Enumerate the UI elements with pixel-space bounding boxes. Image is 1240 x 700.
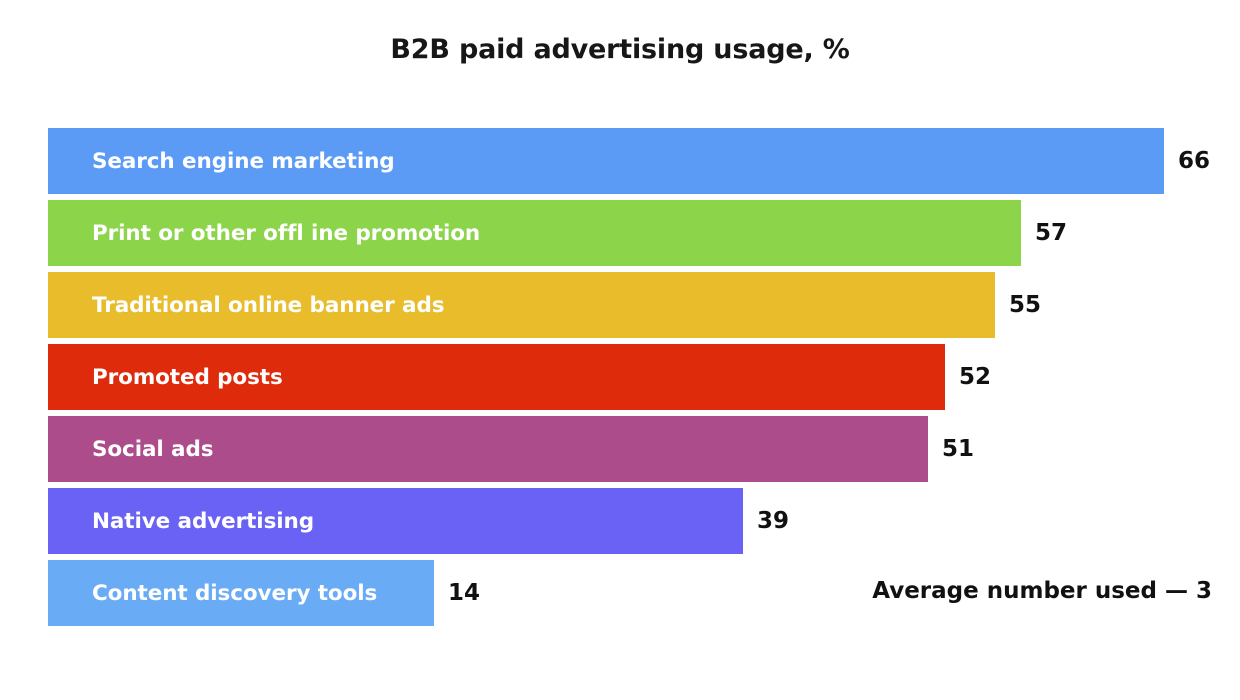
bar-promoted-posts[interactable]: Promoted posts bbox=[48, 344, 945, 410]
bar-value-label: 51 bbox=[928, 416, 974, 482]
bar-value-label: 39 bbox=[743, 488, 789, 554]
bar-row: Promoted posts 52 bbox=[48, 344, 1240, 410]
bar-value-label: 57 bbox=[1021, 200, 1067, 266]
bar-row: Social ads 51 bbox=[48, 416, 1240, 482]
bar-row: Print or other offl ine promotion 57 bbox=[48, 200, 1240, 266]
bar-value-label: 55 bbox=[995, 272, 1041, 338]
average-number-used-annotation: Average number used — 3 bbox=[872, 578, 1212, 604]
bar-row: Traditional online banner ads 55 bbox=[48, 272, 1240, 338]
bars-area: Search engine marketing 66 Print or othe… bbox=[48, 128, 1240, 632]
bar-category-label: Search engine marketing bbox=[92, 149, 395, 174]
bar-category-label: Social ads bbox=[92, 437, 213, 462]
bar-chart: B2B paid advertising usage, % Search eng… bbox=[0, 0, 1240, 700]
bar-value-label: 66 bbox=[1164, 128, 1210, 194]
bar-category-label: Traditional online banner ads bbox=[92, 293, 444, 318]
bar-category-label: Print or other offl ine promotion bbox=[92, 221, 480, 246]
bar-value-label: 52 bbox=[945, 344, 991, 410]
bar-value-label: 14 bbox=[434, 560, 480, 626]
bar-category-label: Promoted posts bbox=[92, 365, 283, 390]
bar-category-label: Content discovery tools bbox=[92, 581, 377, 606]
bar-social-ads[interactable]: Social ads bbox=[48, 416, 928, 482]
bar-search-engine-marketing[interactable]: Search engine marketing bbox=[48, 128, 1164, 194]
bar-category-label: Native advertising bbox=[92, 509, 314, 534]
chart-title: B2B paid advertising usage, % bbox=[0, 34, 1240, 65]
bar-row: Search engine marketing 66 bbox=[48, 128, 1240, 194]
bar-print-or-other-offline-promotion[interactable]: Print or other offl ine promotion bbox=[48, 200, 1021, 266]
bar-row: Native advertising 39 bbox=[48, 488, 1240, 554]
bar-content-discovery-tools[interactable]: Content discovery tools bbox=[48, 560, 434, 626]
bar-traditional-online-banner-ads[interactable]: Traditional online banner ads bbox=[48, 272, 995, 338]
bar-native-advertising[interactable]: Native advertising bbox=[48, 488, 743, 554]
